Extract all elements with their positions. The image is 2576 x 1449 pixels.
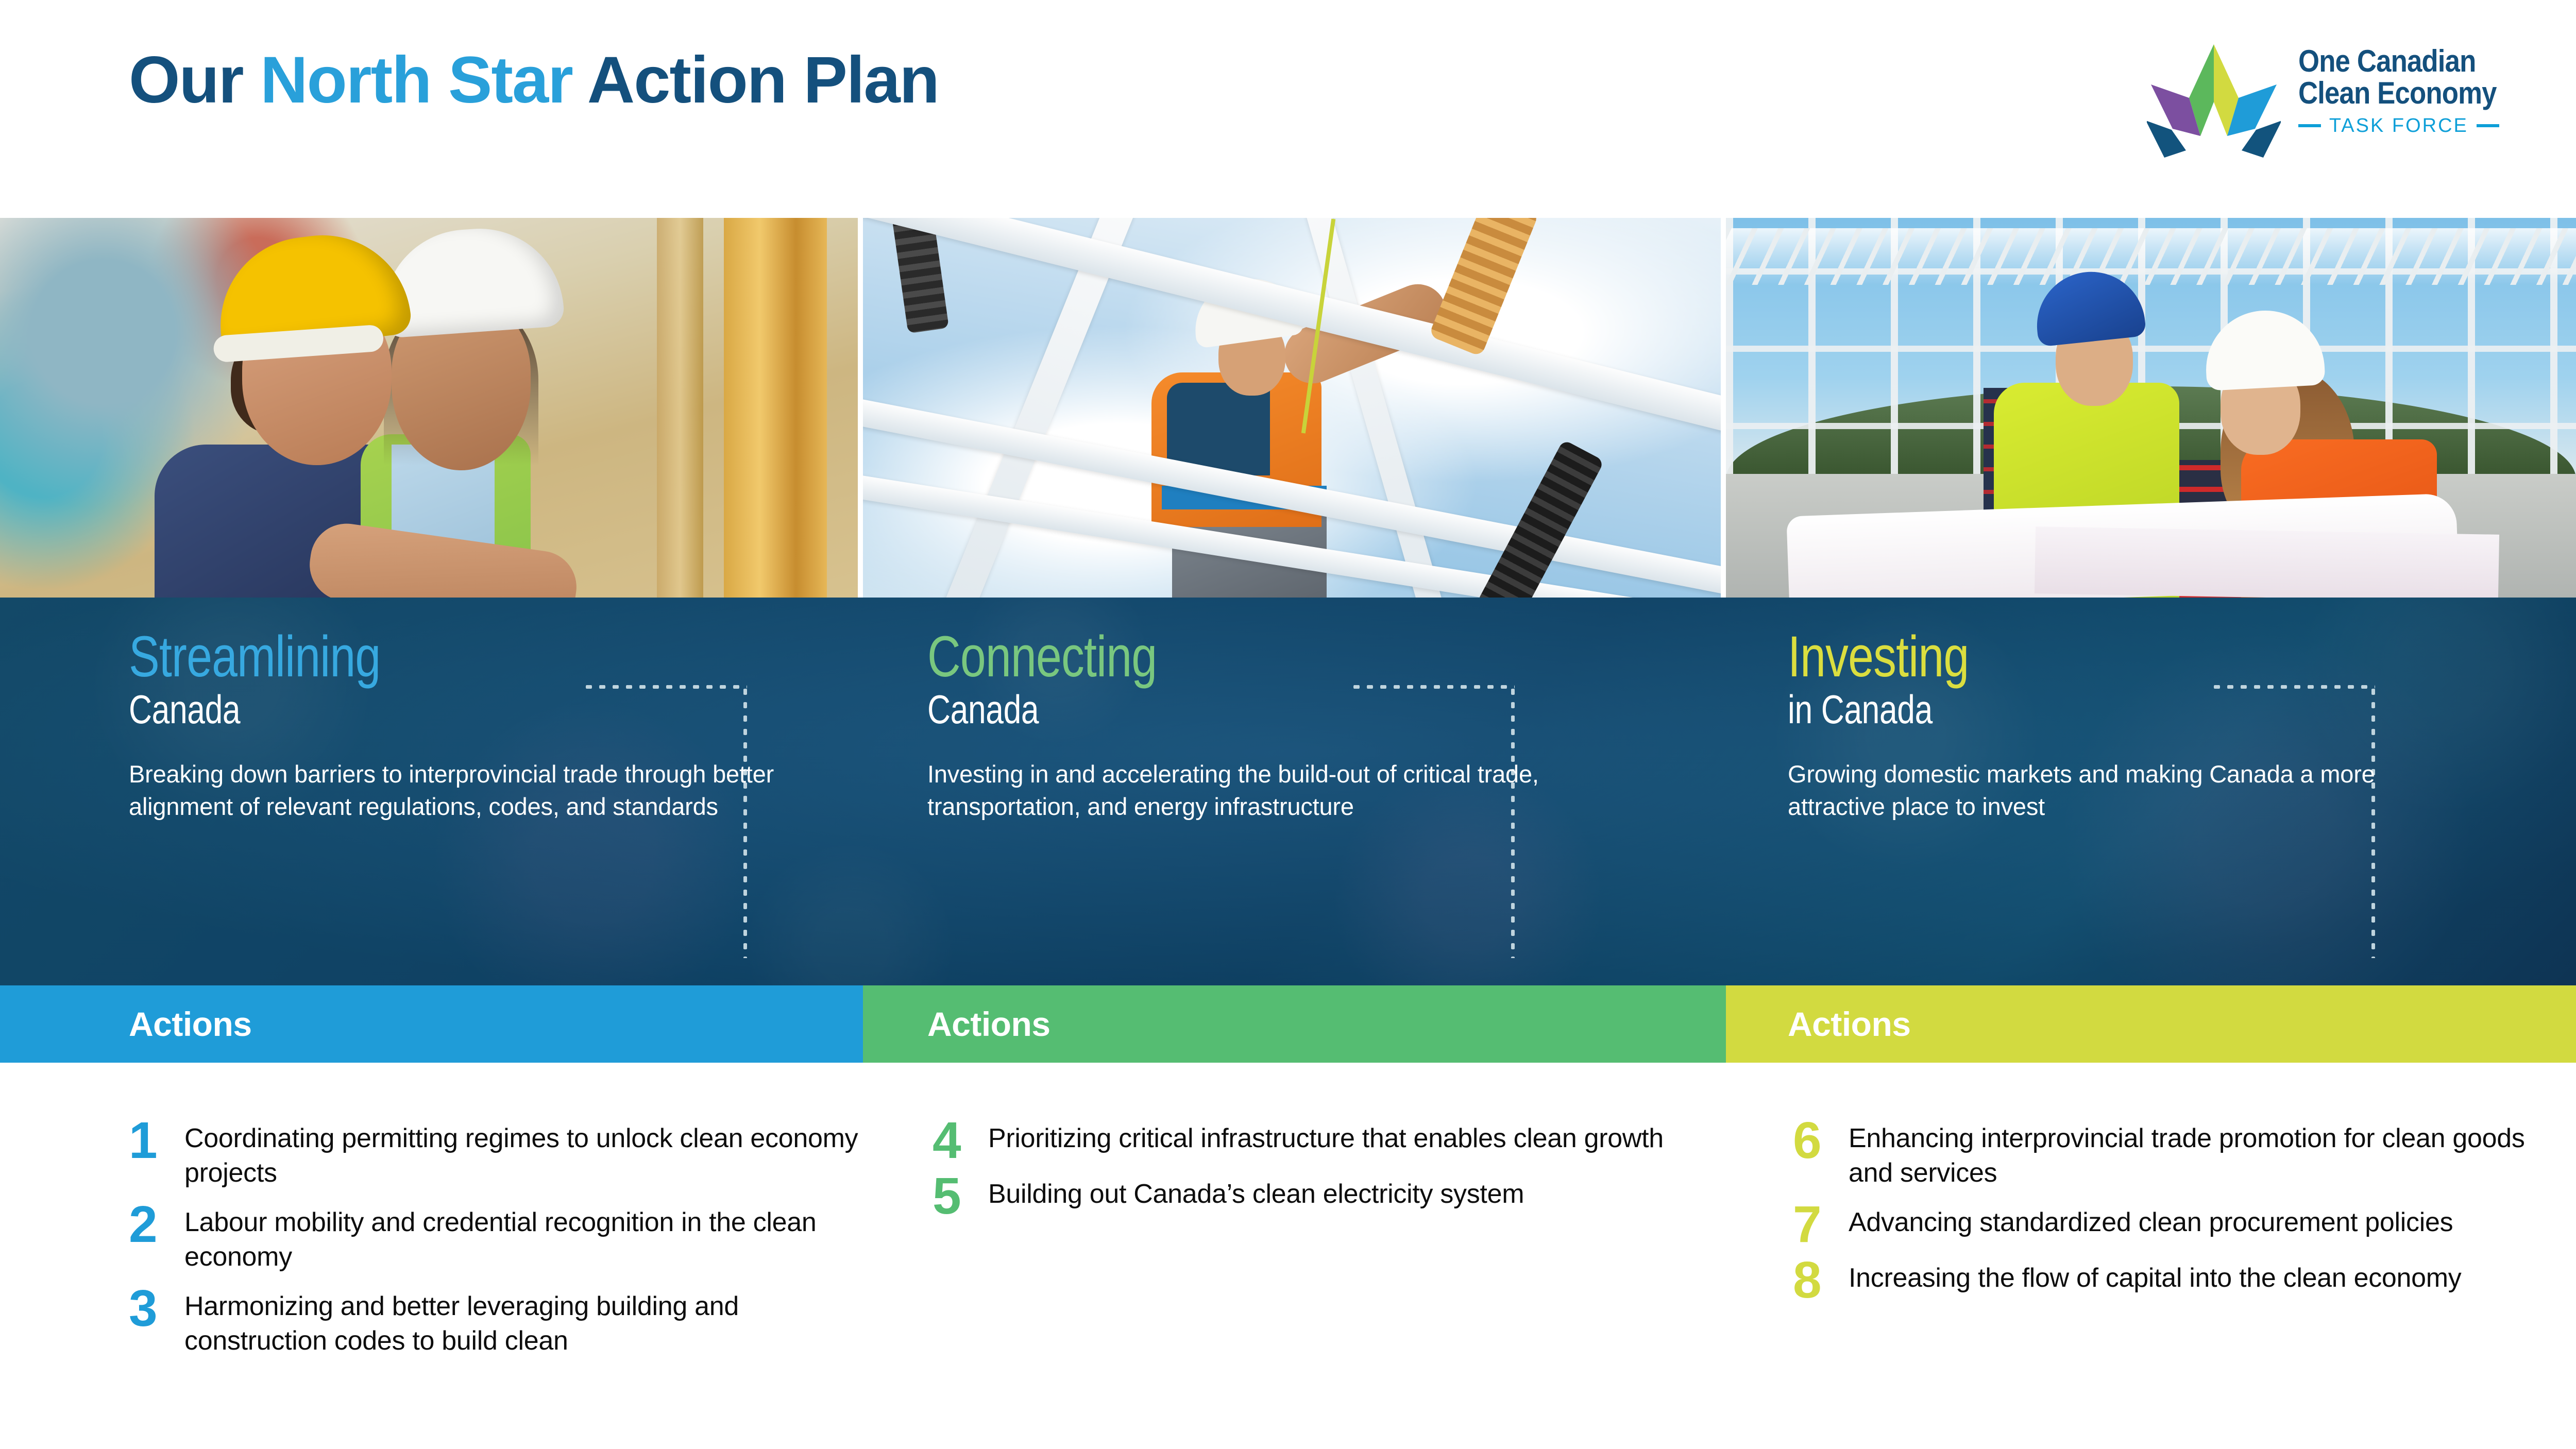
item-number: 7 bbox=[1793, 1203, 1849, 1246]
column-description: Investing in and accelerating the build-… bbox=[927, 758, 1592, 823]
action-list-connecting: 4 Prioritizing critical infrastructure t… bbox=[933, 1119, 1664, 1231]
action-list-streamlining: 1 Coordinating permitting regimes to unl… bbox=[129, 1119, 860, 1371]
column-streamlining: Streamlining Canada Breaking down barrie… bbox=[129, 598, 860, 985]
column-subtitle: Canada bbox=[129, 689, 714, 729]
column-investing: Investing in Canada Growing domestic mar… bbox=[1788, 598, 2540, 985]
page-title: Our North Star Action Plan bbox=[129, 47, 939, 113]
actions-label: Actions bbox=[1788, 1004, 1911, 1044]
actions-bar-streamlining: Actions bbox=[0, 985, 863, 1063]
page-title-part1: Our bbox=[129, 43, 260, 117]
logo: One Canadian Clean Economy TASK FORCE bbox=[2147, 40, 2523, 159]
logo-line-1: One Canadian bbox=[2298, 45, 2497, 77]
item-text: Enhancing interprovincial trade promotio… bbox=[1849, 1119, 2555, 1190]
column-subtitle: Canada bbox=[927, 689, 1513, 729]
page-title-part3: Action Plan bbox=[572, 43, 939, 117]
photo-band bbox=[0, 218, 2576, 598]
item-number: 1 bbox=[129, 1119, 184, 1162]
item-text: Harmonizing and better leveraging buildi… bbox=[184, 1287, 860, 1358]
action-list-investing: 6 Enhancing interprovincial trade promot… bbox=[1793, 1119, 2555, 1315]
item-number: 4 bbox=[933, 1119, 988, 1162]
logo-tagline-text: TASK FORCE bbox=[2329, 115, 2468, 137]
photo-investing bbox=[1726, 218, 2576, 598]
column-kicker: Investing bbox=[1788, 629, 2389, 684]
item-text: Labour mobility and credential recogniti… bbox=[184, 1203, 860, 1274]
actions-label: Actions bbox=[129, 1004, 252, 1044]
actions-label: Actions bbox=[927, 1004, 1050, 1044]
item-number: 2 bbox=[129, 1203, 184, 1246]
list-item: 3 Harmonizing and better leveraging buil… bbox=[129, 1287, 860, 1358]
column-description: Breaking down barriers to interprovincia… bbox=[129, 758, 793, 823]
page-title-part2: North Star bbox=[260, 43, 572, 117]
list-item: 1 Coordinating permitting regimes to unl… bbox=[129, 1119, 860, 1190]
column-connecting: Connecting Canada Investing in and accel… bbox=[927, 598, 1659, 985]
actions-lists: 1 Coordinating permitting regimes to unl… bbox=[0, 1063, 2576, 1449]
item-text: Advancing standardized clean procurement… bbox=[1849, 1203, 2453, 1240]
item-number: 8 bbox=[1793, 1259, 1849, 1301]
logo-line-2: Clean Economy bbox=[2298, 77, 2497, 109]
list-item: 7 Advancing standardized clean procureme… bbox=[1793, 1203, 2555, 1246]
item-text: Prioritizing critical infrastructure tha… bbox=[988, 1119, 1664, 1156]
photo-streamlining bbox=[0, 218, 858, 598]
list-item: 5 Building out Canada’s clean electricit… bbox=[933, 1175, 1664, 1217]
dash-left-icon bbox=[2298, 124, 2321, 127]
actions-bars: Actions Actions Actions bbox=[0, 985, 2576, 1063]
logo-text: One Canadian Clean Economy TASK FORCE bbox=[2298, 40, 2523, 137]
actions-bar-connecting: Actions bbox=[863, 985, 1726, 1063]
list-item: 8 Increasing the flow of capital into th… bbox=[1793, 1259, 2555, 1301]
actions-bar-investing: Actions bbox=[1726, 985, 2576, 1063]
column-subtitle: in Canada bbox=[1788, 689, 2389, 729]
maple-leaf-icon bbox=[2147, 40, 2281, 161]
item-text: Coordinating permitting regimes to unloc… bbox=[184, 1119, 860, 1190]
list-item: 2 Labour mobility and credential recogni… bbox=[129, 1203, 860, 1274]
column-description: Growing domestic markets and making Cana… bbox=[1788, 758, 2452, 823]
header: Our North Star Action Plan One Canadian … bbox=[0, 0, 2576, 218]
column-kicker: Connecting bbox=[927, 629, 1513, 684]
item-text: Building out Canada’s clean electricity … bbox=[988, 1175, 1524, 1212]
item-number: 6 bbox=[1793, 1119, 1849, 1162]
dash-right-icon bbox=[2477, 124, 2499, 127]
photo-connecting bbox=[863, 218, 1721, 598]
list-item: 6 Enhancing interprovincial trade promot… bbox=[1793, 1119, 2555, 1190]
strategy-band: Streamlining Canada Breaking down barrie… bbox=[0, 598, 2576, 985]
item-number: 5 bbox=[933, 1175, 988, 1217]
item-text: Increasing the flow of capital into the … bbox=[1849, 1259, 2461, 1295]
column-kicker: Streamlining bbox=[129, 629, 714, 684]
logo-tagline: TASK FORCE bbox=[2298, 115, 2523, 137]
item-number: 3 bbox=[129, 1287, 184, 1329]
list-item: 4 Prioritizing critical infrastructure t… bbox=[933, 1119, 1664, 1162]
